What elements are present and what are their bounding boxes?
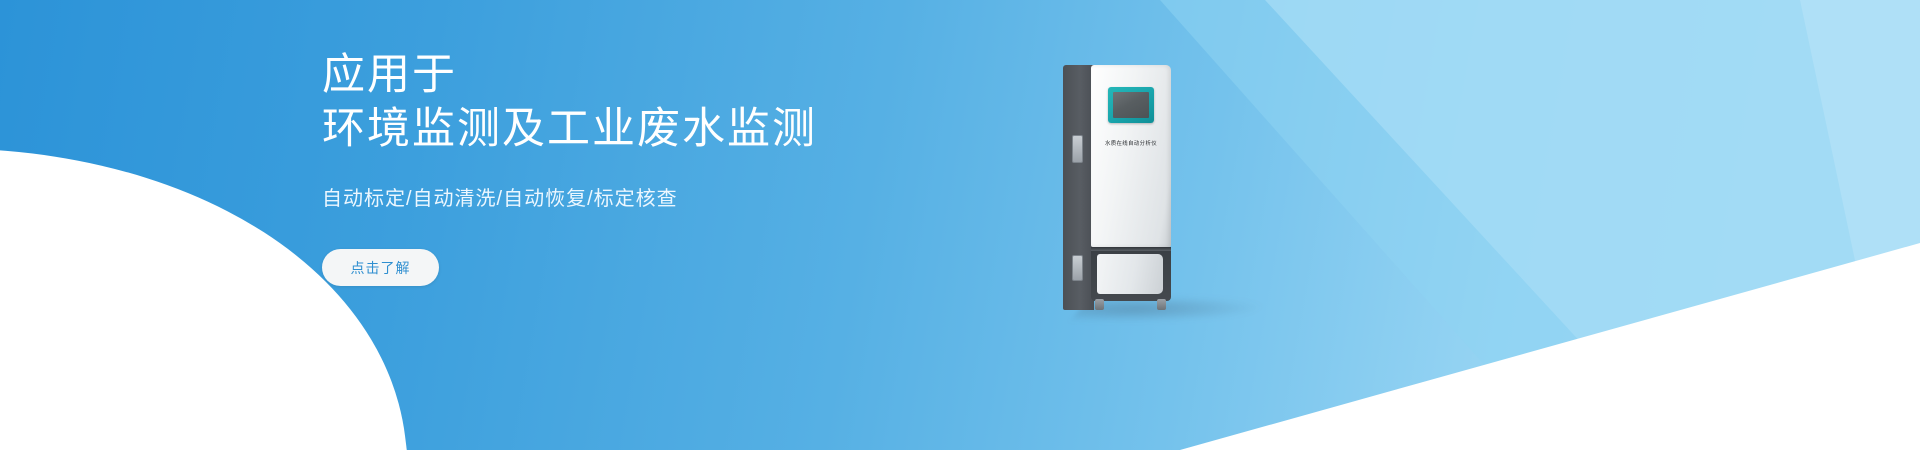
cabinet-lower-section xyxy=(1091,251,1171,301)
cabinet-lower-door xyxy=(1097,254,1163,294)
display-bezel xyxy=(1108,87,1154,123)
cabinet-side-panel xyxy=(1063,65,1094,310)
product-image-analyzer: 水质在线自动分析仪 xyxy=(1063,65,1171,310)
hero-banner: 应用于 环境监测及工业废水监测 自动标定/自动清洗/自动恢复/标定核查 点击了解… xyxy=(0,0,1920,450)
caster-left xyxy=(1095,299,1104,310)
caster-right xyxy=(1157,299,1166,310)
headline-line-1: 应用于 xyxy=(322,48,1082,102)
headline-line-2: 环境监测及工业废水监测 xyxy=(322,102,1082,156)
product-label: 水质在线自动分析仪 xyxy=(1091,139,1171,147)
cabinet-handle-lower xyxy=(1072,255,1083,281)
cabinet-upper-door: 水质在线自动分析仪 xyxy=(1091,65,1171,247)
cabinet-handle-upper xyxy=(1072,135,1083,163)
learn-more-button[interactable]: 点击了解 xyxy=(322,249,439,286)
display-screen xyxy=(1113,92,1149,118)
hero-copy-block: 应用于 环境监测及工业废水监测 自动标定/自动清洗/自动恢复/标定核查 点击了解 xyxy=(322,48,1082,286)
hero-subtitle: 自动标定/自动清洗/自动恢复/标定核查 xyxy=(322,182,1082,211)
